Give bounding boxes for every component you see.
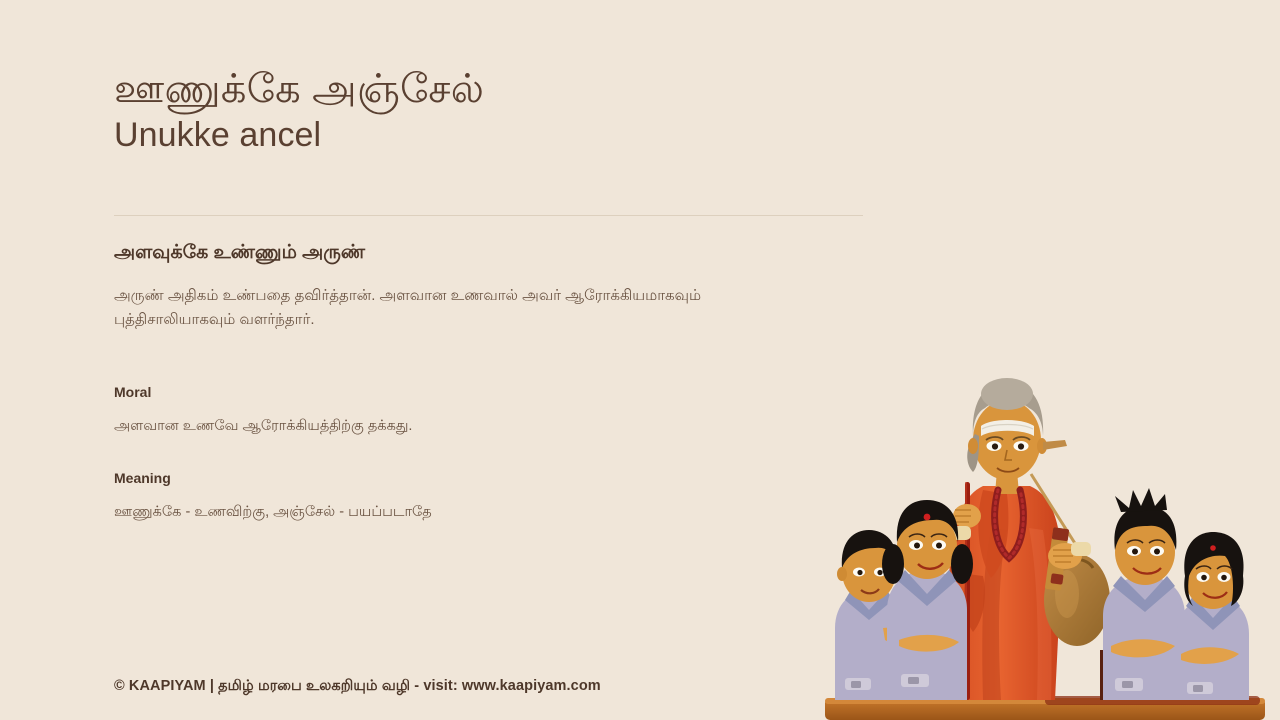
- header-block: ஊணுக்கே அஞ்சேல் Unukke ancel: [114, 66, 874, 156]
- child-figure-right-boy: [1103, 488, 1185, 700]
- meaning-text: ஊணுக்கே - உணவிற்கு, அஞ்சேல் - பயப்படாதே: [114, 501, 804, 523]
- meaning-label: Meaning: [114, 469, 714, 488]
- header-divider: [114, 215, 863, 216]
- moral-label: Moral: [114, 383, 714, 402]
- child-figure-right-girl: [1177, 532, 1249, 700]
- saint-figure: [947, 378, 1110, 700]
- footer-attribution: © KAAPIYAM | தமிழ் மரபை உலகறியும் வழி - …: [114, 678, 601, 696]
- illustration-svg: [815, 378, 1275, 720]
- page-title-english: Unukke ancel: [114, 115, 874, 156]
- moral-text: அளவான உணவே ஆரோக்கியத்திற்கு தக்கது.: [114, 415, 804, 437]
- page-title-tamil: ஊணுக்கே அஞ்சேல்: [114, 66, 874, 113]
- story-illustration: [815, 378, 1275, 720]
- slide-page: ஊணுக்கே அஞ்சேல் Unukke ancel அளவுக்கே உண…: [0, 0, 1280, 720]
- story-body-text: அருண் அதிகம் உண்பதை தவிர்த்தான். அளவான உ…: [114, 284, 804, 331]
- story-heading: அளவுக்கே உண்ணும் அருண்: [114, 240, 854, 266]
